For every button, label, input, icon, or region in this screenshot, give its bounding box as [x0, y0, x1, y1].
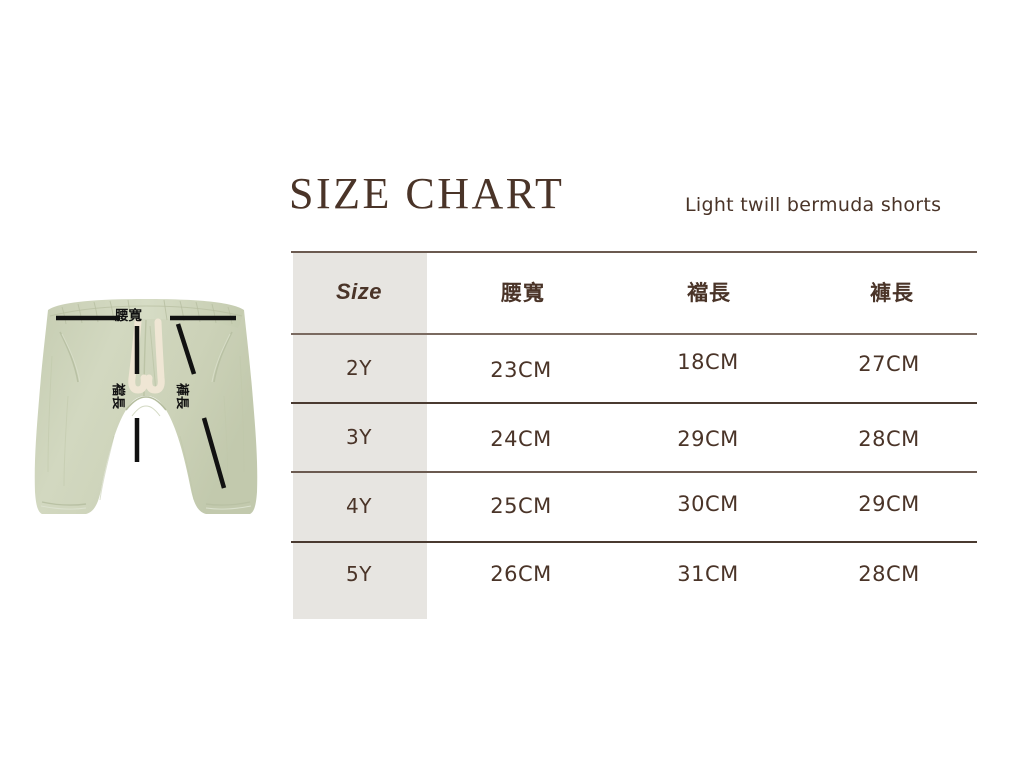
cell-length: 27CM: [801, 329, 977, 398]
cell-size: 2Y: [291, 333, 427, 402]
cell-size: 5Y: [291, 535, 427, 613]
cell-waist: 24CM: [427, 404, 615, 473]
cell-size: 3Y: [291, 402, 427, 471]
cell-rise: 31CM: [615, 535, 801, 613]
table-row: 4Y 25CM 30CM 29CM: [291, 471, 977, 541]
cell-rise: 29CM: [615, 404, 801, 473]
product-name-subtitle: Light twill bermuda shorts: [685, 196, 941, 215]
size-chart-page: 腰寬 襠長 褲長 SIZE CHART Light twill bermuda …: [0, 0, 1024, 768]
table-row: 2Y 23CM 18CM 27CM: [291, 333, 977, 402]
column-header-waist: 腰寬: [427, 251, 615, 333]
column-header-rise: 襠長: [615, 251, 801, 333]
cell-waist: 26CM: [427, 535, 615, 613]
cell-rise: 30CM: [615, 469, 801, 539]
cell-waist: 25CM: [427, 471, 615, 541]
cell-length: 28CM: [801, 535, 977, 613]
annotation-waist-width: 腰寬: [115, 310, 142, 324]
cell-waist: 23CM: [427, 335, 615, 404]
table-row: 3Y 24CM 29CM 28CM: [291, 402, 977, 471]
table-header-row: Size 腰寬 襠長 褲長: [291, 251, 977, 333]
page-title: SIZE CHART: [289, 172, 564, 216]
cell-length: 29CM: [801, 469, 977, 539]
cell-length: 28CM: [801, 404, 977, 473]
cell-rise: 18CM: [615, 327, 801, 396]
cell-size: 4Y: [291, 471, 427, 541]
annotation-pant-length: 褲長: [175, 383, 188, 409]
product-image: [28, 296, 276, 546]
column-header-length: 褲長: [801, 251, 977, 333]
annotation-rise-length: 襠長: [111, 383, 124, 409]
size-chart-table: Size 腰寬 襠長 褲長 2Y 23CM 18CM 27CM 3Y 24CM …: [291, 251, 977, 619]
column-header-size: Size: [291, 251, 427, 333]
table-row: 5Y 26CM 31CM 28CM: [291, 541, 977, 619]
